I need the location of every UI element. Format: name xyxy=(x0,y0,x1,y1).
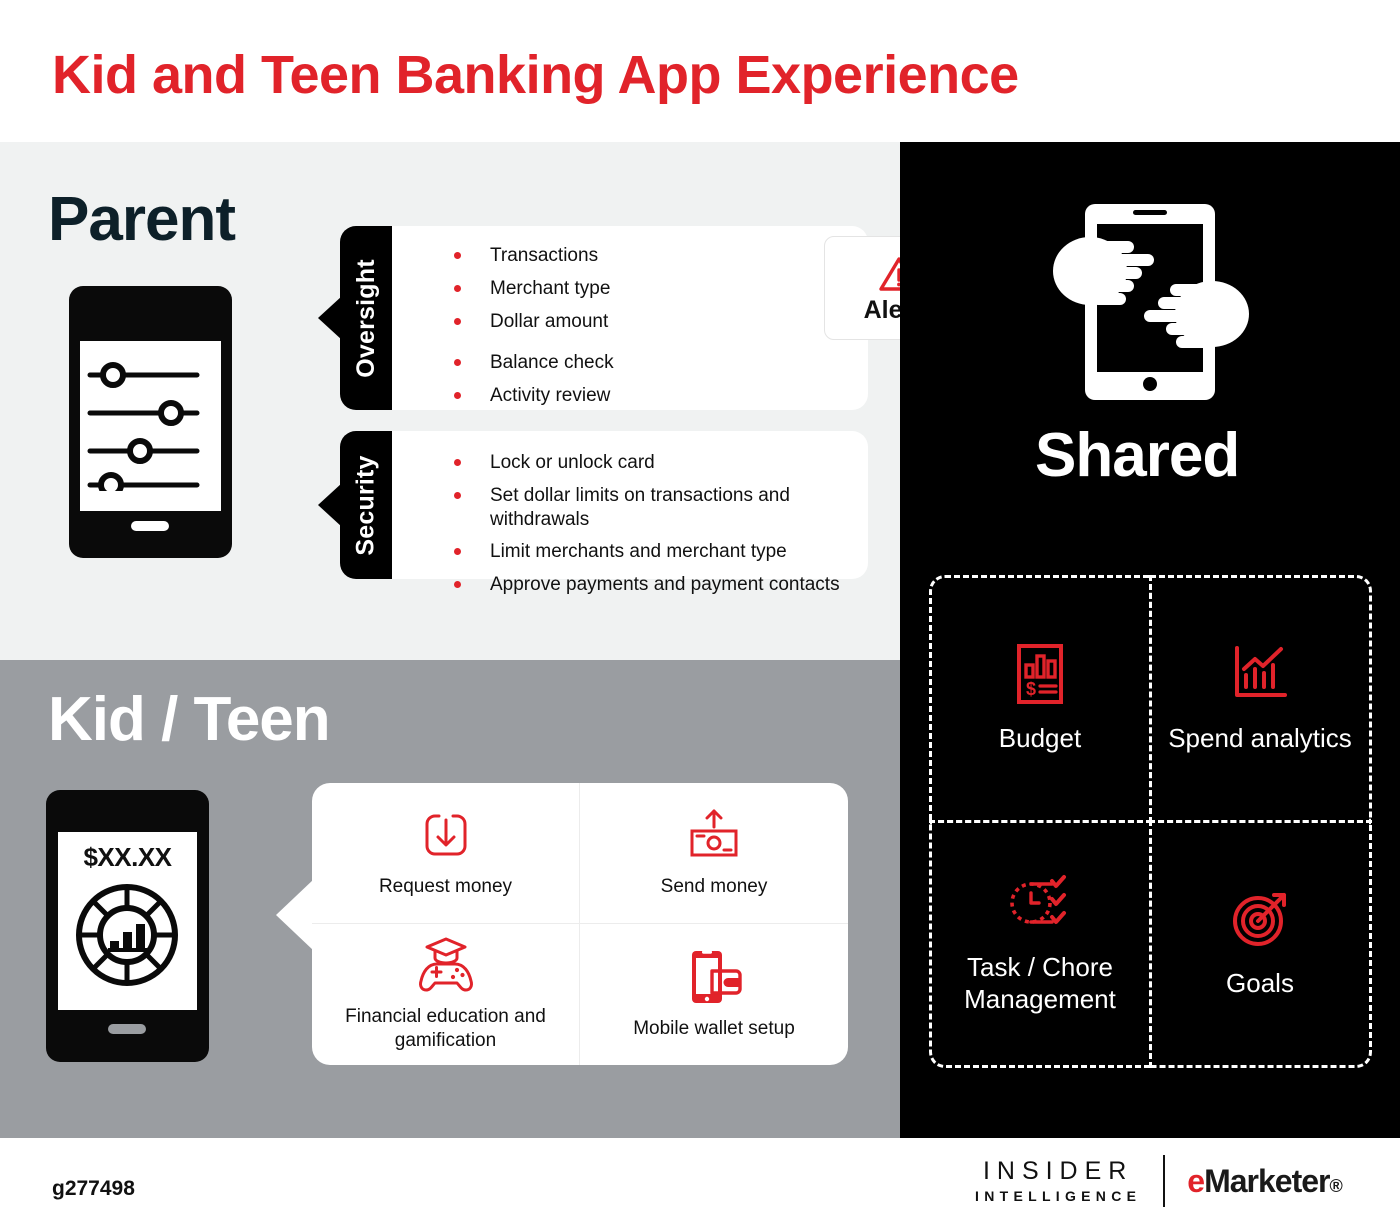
kid-feature-label: Request money xyxy=(379,875,512,899)
svg-text:$: $ xyxy=(1026,679,1036,699)
shared-tile-label: Goals xyxy=(1226,968,1294,999)
shared-tile-label: Budget xyxy=(999,723,1081,754)
phone-donut-chart-icon xyxy=(72,880,182,990)
oversight-tab: Oversight xyxy=(340,226,392,410)
kid-phone-balance: $XX.XX xyxy=(46,842,209,873)
insider-logo-line1: INSIDER xyxy=(975,1159,1141,1184)
phone-settings-sliders-icon xyxy=(87,361,207,491)
kid-feature-financial-education[interactable]: Financial education and gamification xyxy=(312,924,580,1065)
footer-branding: INSIDER INTELLIGENCE eMarketer® xyxy=(975,1155,1342,1207)
graduation-gamepad-icon xyxy=(415,937,477,993)
kid-feature-request-money[interactable]: Request money xyxy=(312,783,580,924)
oversight-card: Transactions Merchant type Dollar amount… xyxy=(376,226,868,410)
kid-features-grid: Request money Send money xyxy=(312,783,848,1065)
phone-wallet-icon xyxy=(684,949,744,1005)
shared-tile-budget[interactable]: $ Budget xyxy=(929,575,1152,823)
shared-tile-goals[interactable]: Goals xyxy=(1149,820,1372,1068)
emarketer-logo-registered: ® xyxy=(1329,1176,1341,1196)
kid-feature-label: Send money xyxy=(661,875,768,899)
insider-intelligence-logo: INSIDER INTELLIGENCE xyxy=(975,1159,1141,1203)
shared-features-grid: $ Budget Spend analytics xyxy=(930,576,1370,1066)
emarketer-logo-rest: Marketer xyxy=(1204,1163,1329,1199)
security-tab-label: Security xyxy=(352,455,381,555)
shared-tile-label: Task / Chore Management xyxy=(938,952,1143,1014)
list-item: Lock or unlock card xyxy=(454,451,868,475)
list-item: Limit merchants and merchant type xyxy=(454,540,868,564)
parent-phone-home-button xyxy=(131,521,169,531)
clock-checklist-icon xyxy=(1008,872,1072,934)
oversight-tab-pointer xyxy=(318,296,342,340)
kid-feature-label: Mobile wallet setup xyxy=(633,1017,795,1041)
page-title: Kid and Teen Banking App Experience xyxy=(52,44,1019,106)
footer-chart-code: g277498 xyxy=(52,1177,135,1201)
kid-phone-illustration: $XX.XX xyxy=(46,790,209,1062)
banknote-up-arrow-icon xyxy=(686,807,742,863)
emarketer-logo: eMarketer® xyxy=(1187,1163,1341,1200)
shared-tile-spend-analytics[interactable]: Spend analytics xyxy=(1149,575,1372,823)
target-arrow-icon xyxy=(1230,888,1290,950)
download-arrow-into-box-icon xyxy=(421,807,471,863)
shared-tile-task-chore[interactable]: Task / Chore Management xyxy=(929,820,1152,1068)
list-item: Balance check xyxy=(454,351,614,375)
security-bullet-list: Lock or unlock card Set dollar limits on… xyxy=(454,451,868,606)
shared-tile-label: Spend analytics xyxy=(1168,723,1352,754)
budget-document-icon: $ xyxy=(1013,643,1067,705)
kid-feature-label: Financial education and gamification xyxy=(322,1005,569,1053)
insider-logo-line2: INTELLIGENCE xyxy=(975,1189,1141,1203)
oversight-bullet-list: Transactions Merchant type Dollar amount… xyxy=(454,244,614,417)
oversight-tab-label: Oversight xyxy=(352,259,381,378)
list-item: Dollar amount xyxy=(454,310,614,334)
list-item: Activity review xyxy=(454,384,614,408)
bar-chart-trend-icon xyxy=(1231,643,1289,705)
shared-heading: Shared xyxy=(1035,420,1239,491)
brand-divider xyxy=(1163,1155,1165,1207)
oversight-block: Transactions Merchant type Dollar amount… xyxy=(318,226,868,410)
security-block: Lock or unlock card Set dollar limits on… xyxy=(318,431,868,579)
list-item: Approve payments and payment contacts xyxy=(454,573,868,597)
emarketer-logo-e: e xyxy=(1187,1163,1204,1199)
kid-phone-home-button xyxy=(108,1024,146,1034)
parent-phone-illustration xyxy=(69,286,232,558)
kid-features-card: Request money Send money xyxy=(312,783,848,1065)
list-item: Set dollar limits on transactions and wi… xyxy=(454,484,868,532)
list-item: Merchant type xyxy=(454,277,614,301)
two-hands-holding-phone-icon xyxy=(1040,196,1260,408)
security-tab: Security xyxy=(340,431,392,579)
security-card: Lock or unlock card Set dollar limits on… xyxy=(376,431,868,579)
kid-feature-mobile-wallet[interactable]: Mobile wallet setup xyxy=(580,924,848,1065)
parent-heading: Parent xyxy=(48,184,235,255)
security-tab-pointer xyxy=(318,483,342,527)
kid-teen-heading: Kid / Teen xyxy=(48,684,330,755)
kid-feature-send-money[interactable]: Send money xyxy=(580,783,848,924)
list-item: Transactions xyxy=(454,244,614,268)
